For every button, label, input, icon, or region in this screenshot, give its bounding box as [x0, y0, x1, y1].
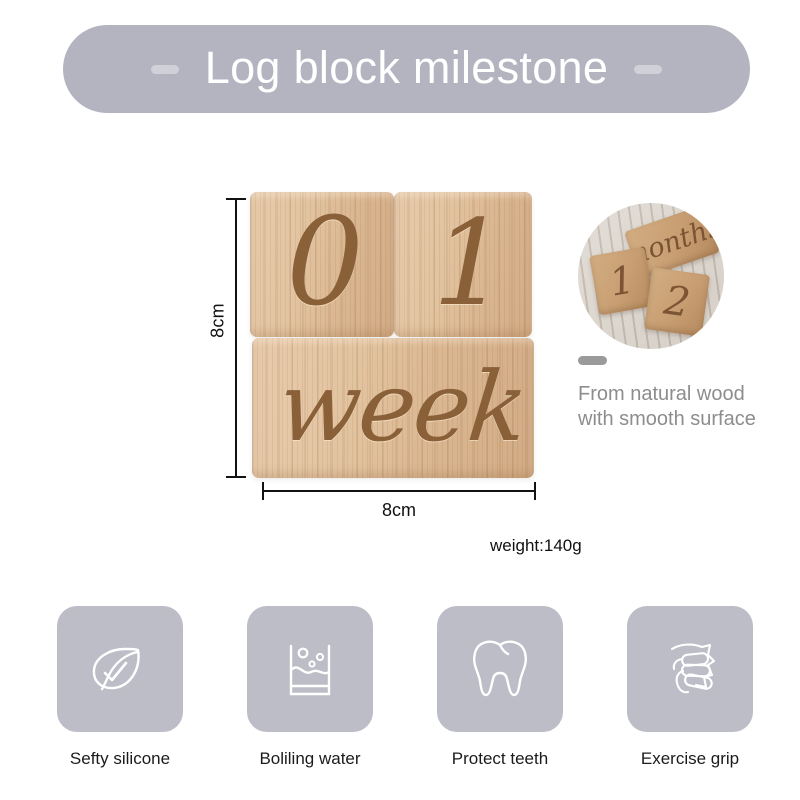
feature-label-exercise-grip: Exercise grip: [627, 749, 753, 769]
wood-block-zero-glyph: 0: [250, 192, 394, 337]
feature-label-boiling-water: Boliling water: [247, 749, 373, 769]
feature-item-safety-silicone[interactable]: Sefty silicone: [57, 606, 183, 769]
feature-label-protect-teeth: Protect teeth: [437, 749, 563, 769]
weight-label: weight:140g: [490, 536, 582, 556]
wood-block-week-glyph: week: [252, 338, 534, 478]
inset-block-one: 1: [589, 247, 655, 316]
inset-caption-line-1: From natural wood: [578, 382, 788, 407]
width-dimension: 8cm: [262, 482, 536, 522]
feature-label-safety-silicone: Sefty silicone: [57, 749, 183, 769]
leaf-check-icon: [81, 630, 159, 708]
height-dimension: 8cm: [210, 198, 250, 478]
width-dimension-label: 8cm: [262, 500, 536, 521]
inset-photo: months 1 2: [578, 203, 724, 349]
wood-block-one-glyph: 1: [394, 192, 532, 337]
width-dimension-line: [262, 490, 536, 492]
wood-block-zero: 0: [250, 192, 394, 337]
feature-item-protect-teeth[interactable]: Protect teeth: [437, 606, 563, 769]
banner-dash-right: [634, 65, 662, 74]
inset-caption-line-2: with smooth surface: [578, 407, 788, 432]
boiling-water-icon: [273, 632, 347, 706]
inset-divider-dash: [578, 356, 607, 365]
wood-block-week: week: [252, 338, 534, 478]
inset-caption: From natural wood with smooth surface: [578, 382, 788, 432]
banner-dash-left: [151, 65, 179, 74]
height-dimension-cap-bottom: [226, 476, 246, 478]
header-banner: Log block milestone: [63, 25, 750, 113]
height-dimension-label: 8cm: [208, 291, 229, 351]
page-title: Log block milestone: [205, 45, 608, 94]
feature-tile-exercise-grip[interactable]: [627, 606, 753, 732]
feature-tile-boiling-water[interactable]: [247, 606, 373, 732]
feature-row: Sefty silicone Boliling water Protect te…: [0, 606, 800, 776]
height-dimension-line: [235, 198, 237, 478]
fist-grip-icon: [652, 631, 728, 707]
feature-item-boiling-water[interactable]: Boliling water: [247, 606, 373, 769]
tooth-icon: [462, 631, 538, 707]
feature-tile-safety-silicone[interactable]: [57, 606, 183, 732]
wood-block-one: 1: [394, 192, 532, 337]
feature-item-exercise-grip[interactable]: Exercise grip: [627, 606, 753, 769]
inset-block-two: 2: [644, 267, 710, 336]
width-dimension-cap-right: [534, 482, 536, 500]
feature-tile-protect-teeth[interactable]: [437, 606, 563, 732]
